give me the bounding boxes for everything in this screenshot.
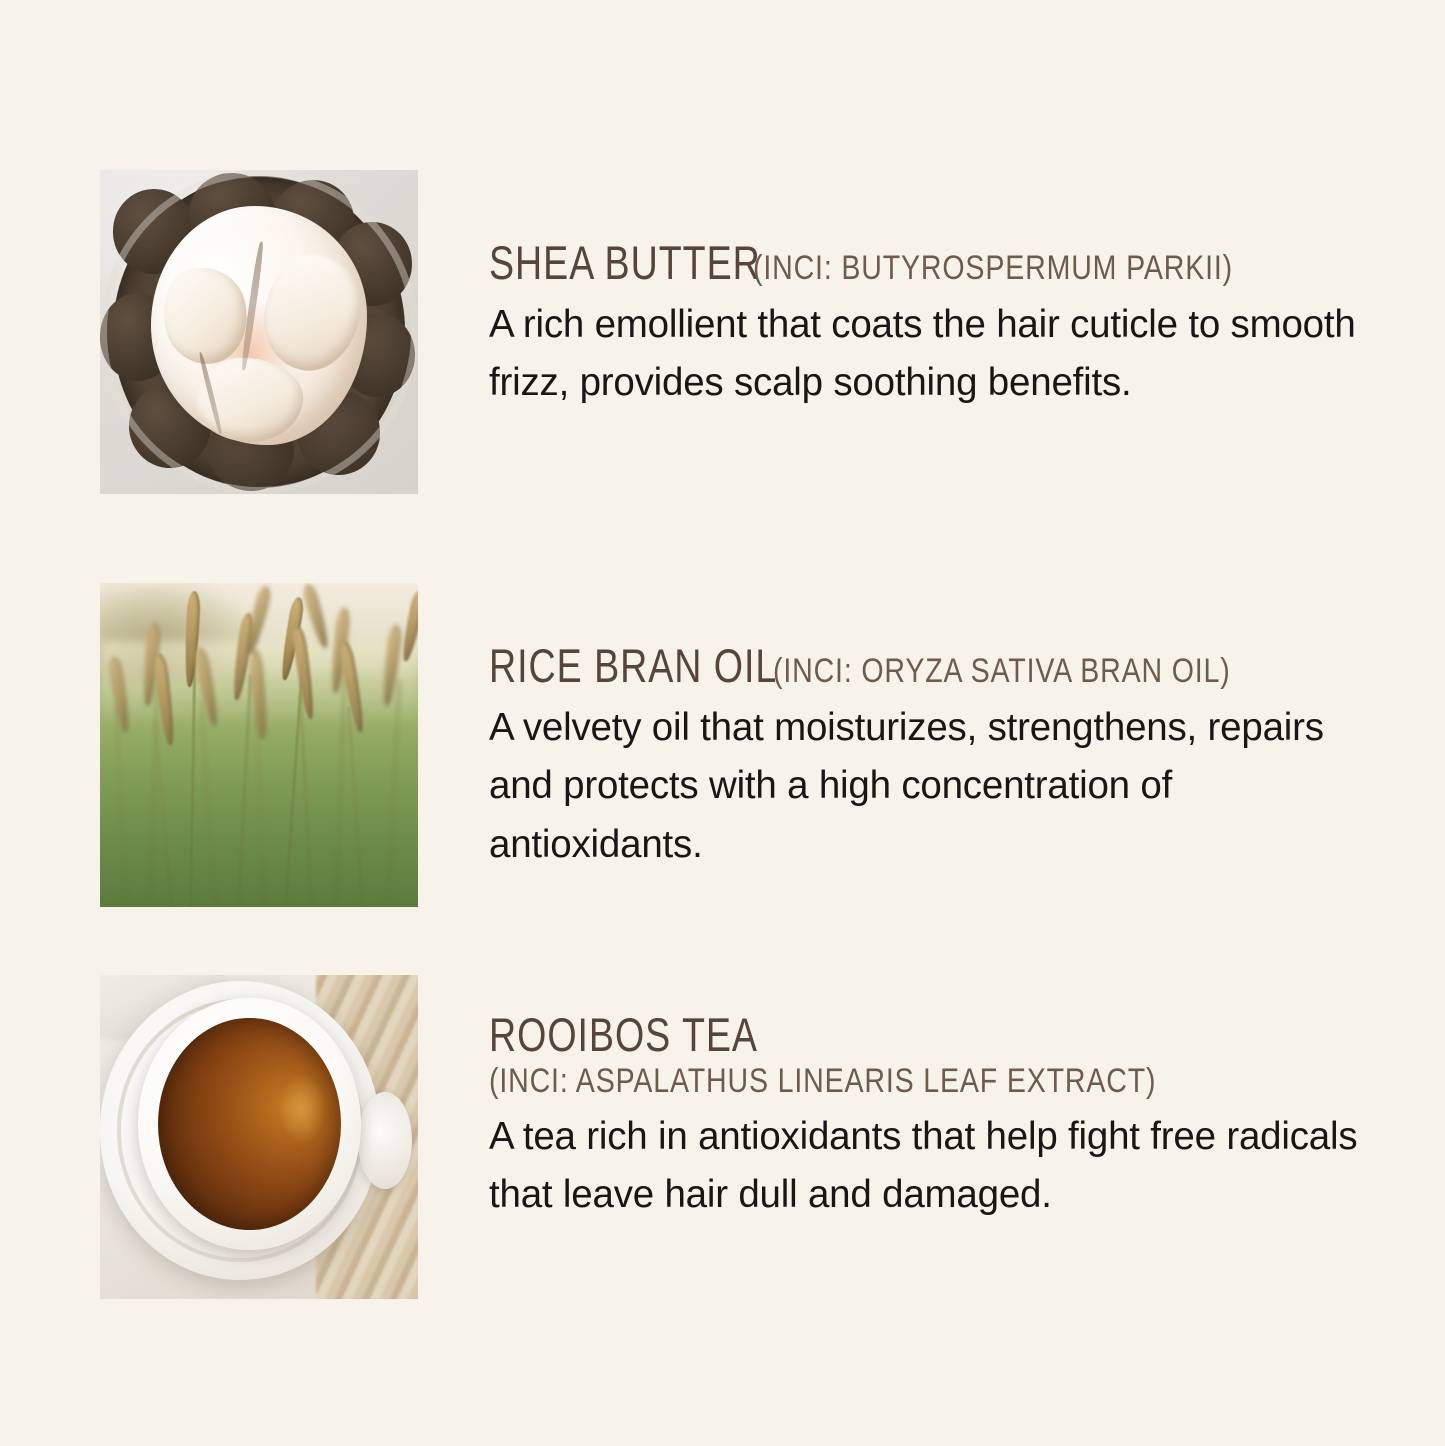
ingredient-inci: (INCI: BUTYROSPERMUM PARKII) <box>753 250 1233 286</box>
ingredient-benefits-panel: SHEA BUTTER(INCI: BUTYROSPERMUM PARKII) … <box>0 0 1445 1446</box>
ingredient-inci: (INCI: ASPALATHUS LINEARIS LEAF EXTRACT) <box>489 1064 1156 1100</box>
ingredient-inci: (INCI: ORYZA SATIVA BRAN OIL) <box>773 653 1231 689</box>
cup-handle <box>358 1092 412 1189</box>
shea-butter-title: SHEA BUTTER(INCI: BUTYROSPERMUM PARKII) <box>489 238 1389 288</box>
rice-bran-oil-title: RICE BRAN OIL(INCI: ORYZA SATIVA BRAN OI… <box>489 641 1389 691</box>
rooibos-tea-title: ROOIBOS TEA <box>489 1010 1389 1060</box>
ingredient-row: ROOIBOS TEA (INCI: ASPALATHUS LINEARIS L… <box>100 975 1389 1299</box>
ingredient-description: A tea rich in antioxidants that help fig… <box>489 1108 1389 1225</box>
grass-stalk <box>255 713 265 907</box>
rice-bran-oil-text-block: RICE BRAN OIL(INCI: ORYZA SATIVA BRAN OI… <box>489 583 1389 874</box>
ingredient-name: SHEA BUTTER <box>489 238 761 288</box>
ingredient-description: A rich emollient that coats the hair cut… <box>489 296 1389 413</box>
shea-butter-image <box>100 170 418 494</box>
tea-liquid <box>158 1018 341 1230</box>
ingredient-row: RICE BRAN OIL(INCI: ORYZA SATIVA BRAN OI… <box>100 583 1389 907</box>
grass-stalk <box>347 707 364 907</box>
grass-stalk <box>154 720 173 907</box>
rooibos-tea-inci-line: (INCI: ASPALATHUS LINEARIS LEAF EXTRACT) <box>489 1064 1389 1100</box>
rooibos-tea-text-block: ROOIBOS TEA (INCI: ASPALATHUS LINEARIS L… <box>489 975 1389 1225</box>
grass-stalk <box>200 700 217 907</box>
ingredient-name: RICE BRAN OIL <box>489 641 777 691</box>
ingredient-name: ROOIBOS TEA <box>489 1010 758 1060</box>
tea-highlight <box>279 1073 326 1145</box>
ingredient-description: A velvety oil that moisturizes, strength… <box>489 699 1389 875</box>
rice-bran-field-image <box>100 583 418 907</box>
rooibos-tea-image <box>100 975 418 1299</box>
grass-stalk <box>115 706 129 907</box>
shea-butter-text-block: SHEA BUTTER(INCI: BUTYROSPERMUM PARKII) … <box>489 170 1389 413</box>
bowl-rim <box>100 170 418 494</box>
teacup <box>138 998 361 1251</box>
ingredient-row: SHEA BUTTER(INCI: BUTYROSPERMUM PARKII) … <box>100 170 1389 494</box>
